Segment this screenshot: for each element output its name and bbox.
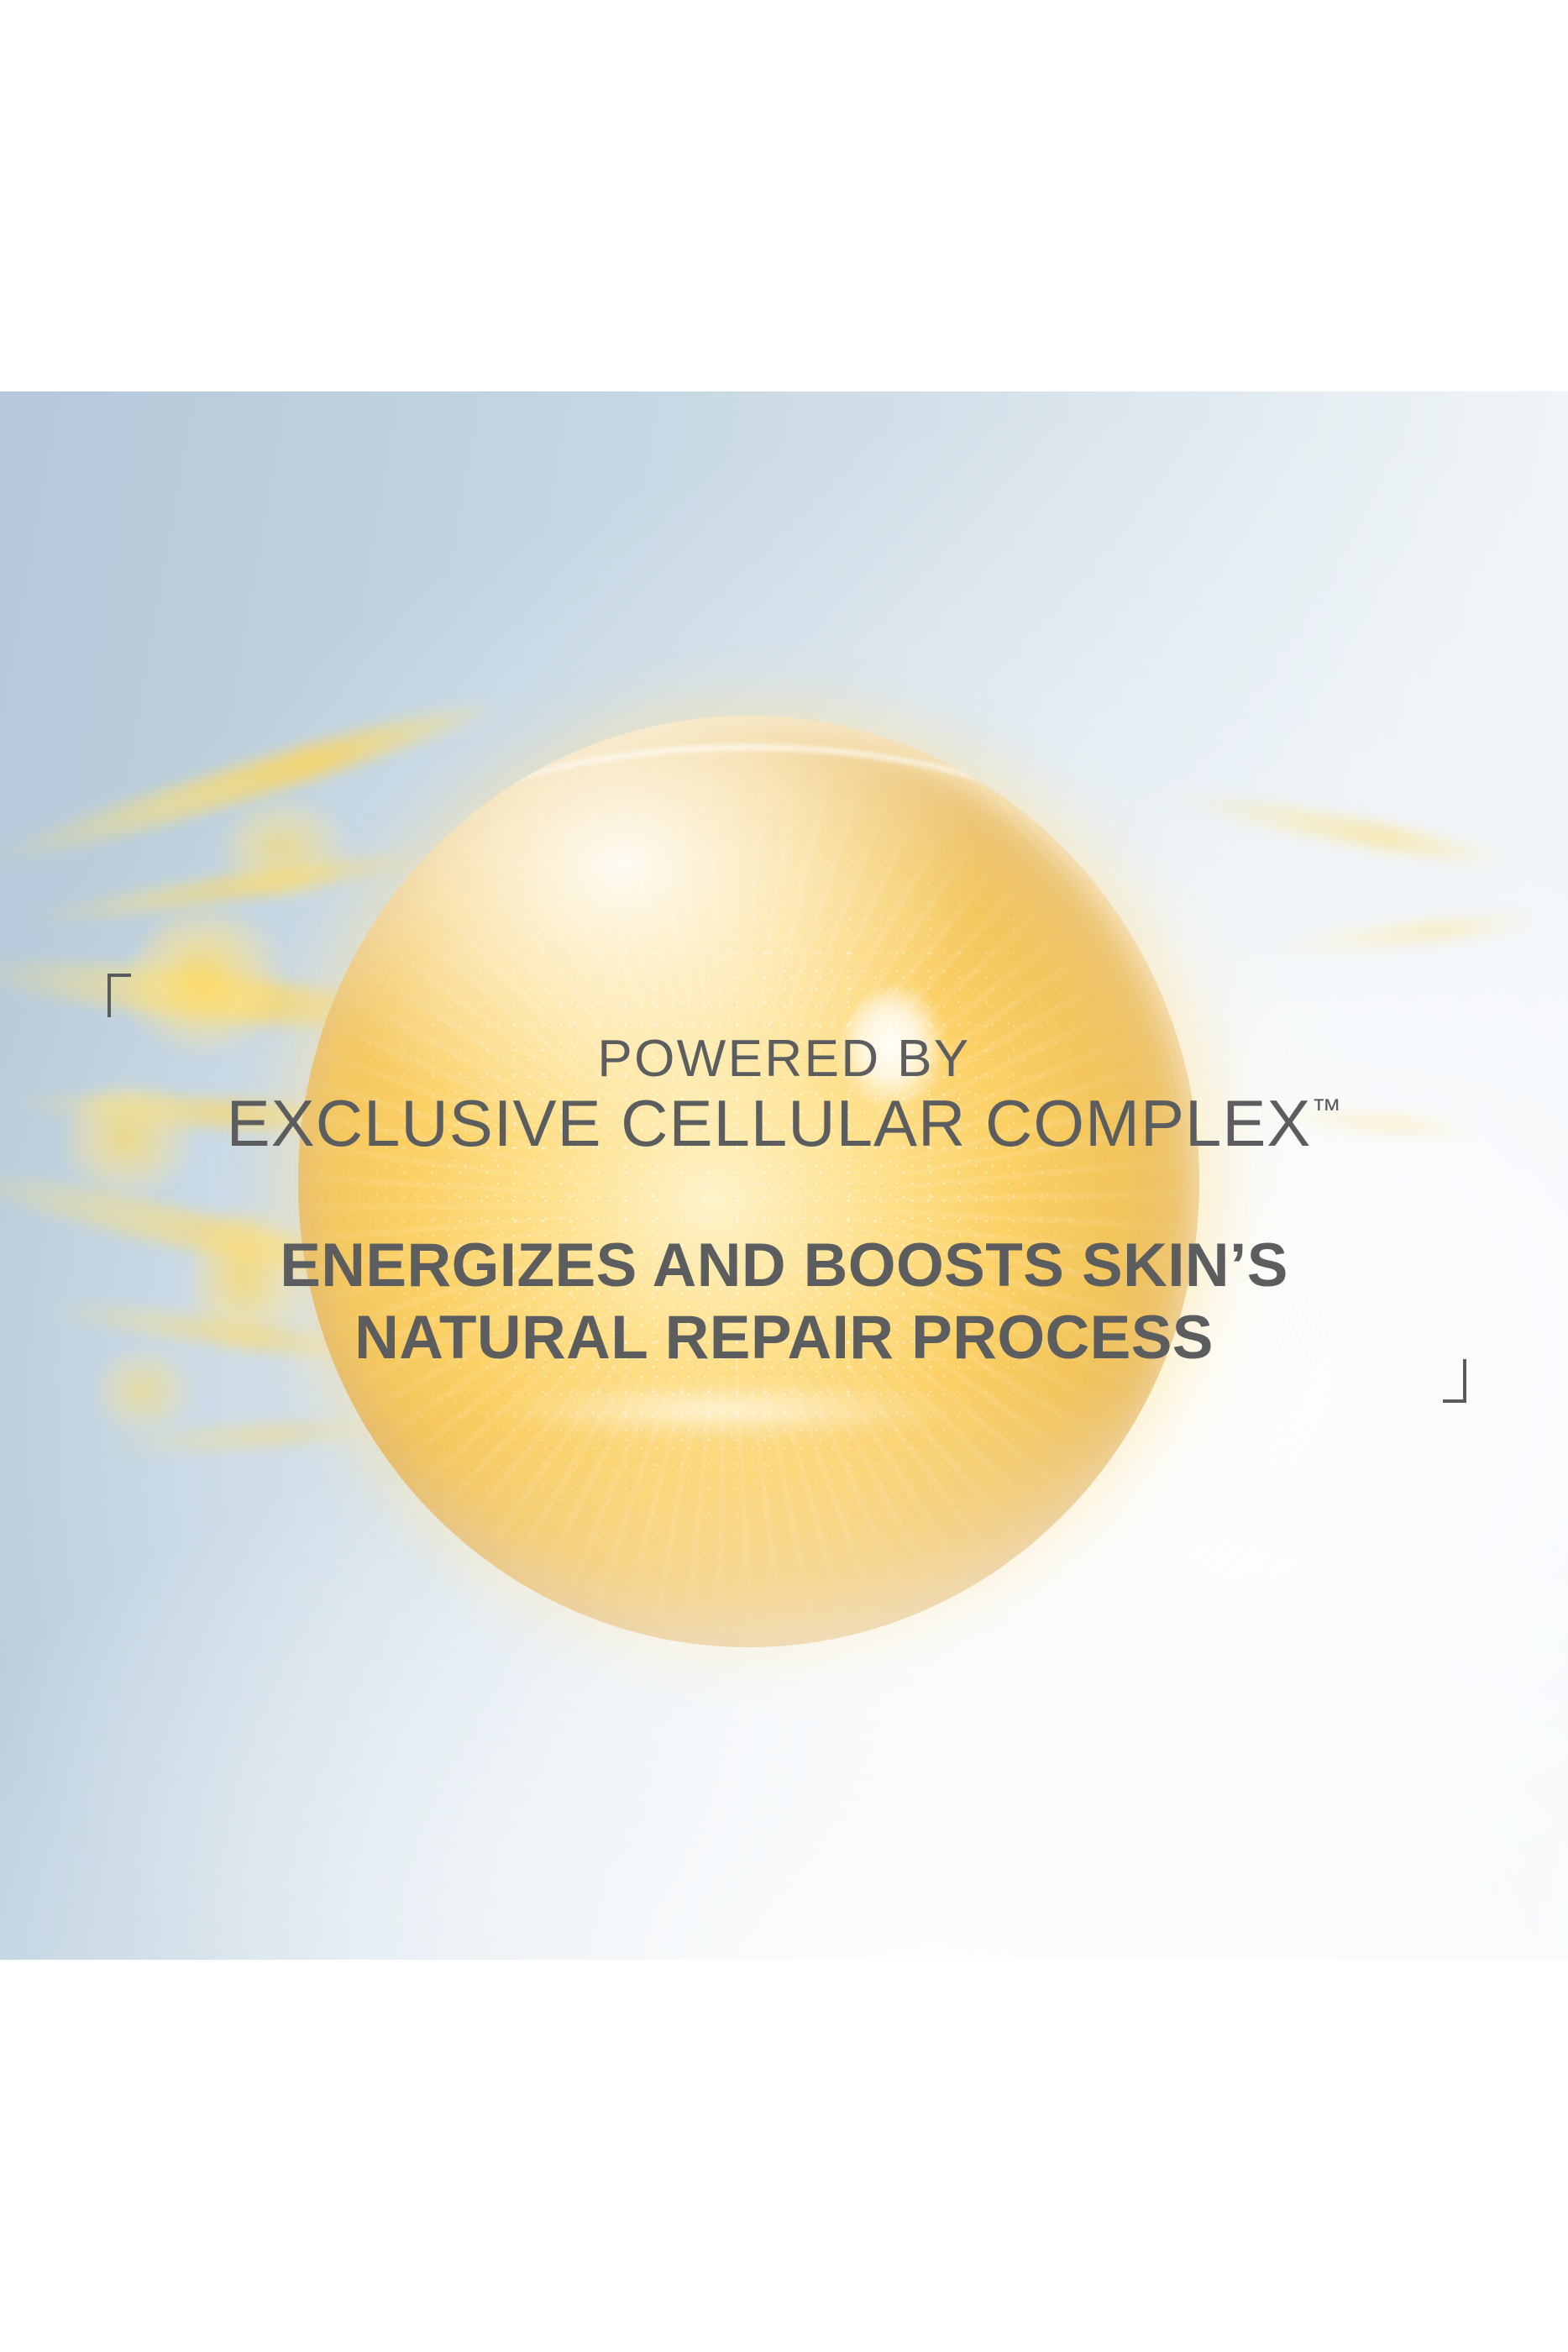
gold-splash-streak (1254, 1103, 1474, 1139)
sphere-rim-shadow (298, 716, 1200, 1647)
product-benefit-hero-image: POWERED BY EXCLUSIVE CELLULAR COMPLEX™ E… (0, 391, 1568, 1960)
bracket-stroke-vertical (1463, 1359, 1466, 1403)
gold-splash-blob (94, 1348, 204, 1442)
gold-splash-streak (1162, 782, 1505, 873)
gold-splash-blob (188, 1207, 313, 1364)
golden-serum-sphere (298, 716, 1200, 1647)
gold-splash-streak (1270, 911, 1537, 957)
gold-splash-blob (125, 909, 297, 1066)
page-root: POWERED BY EXCLUSIVE CELLULAR COMPLEX™ E… (0, 0, 1568, 2352)
corner-bracket-bottom-right-icon (1438, 1359, 1466, 1403)
bracket-stroke-horizontal (1443, 1399, 1466, 1403)
